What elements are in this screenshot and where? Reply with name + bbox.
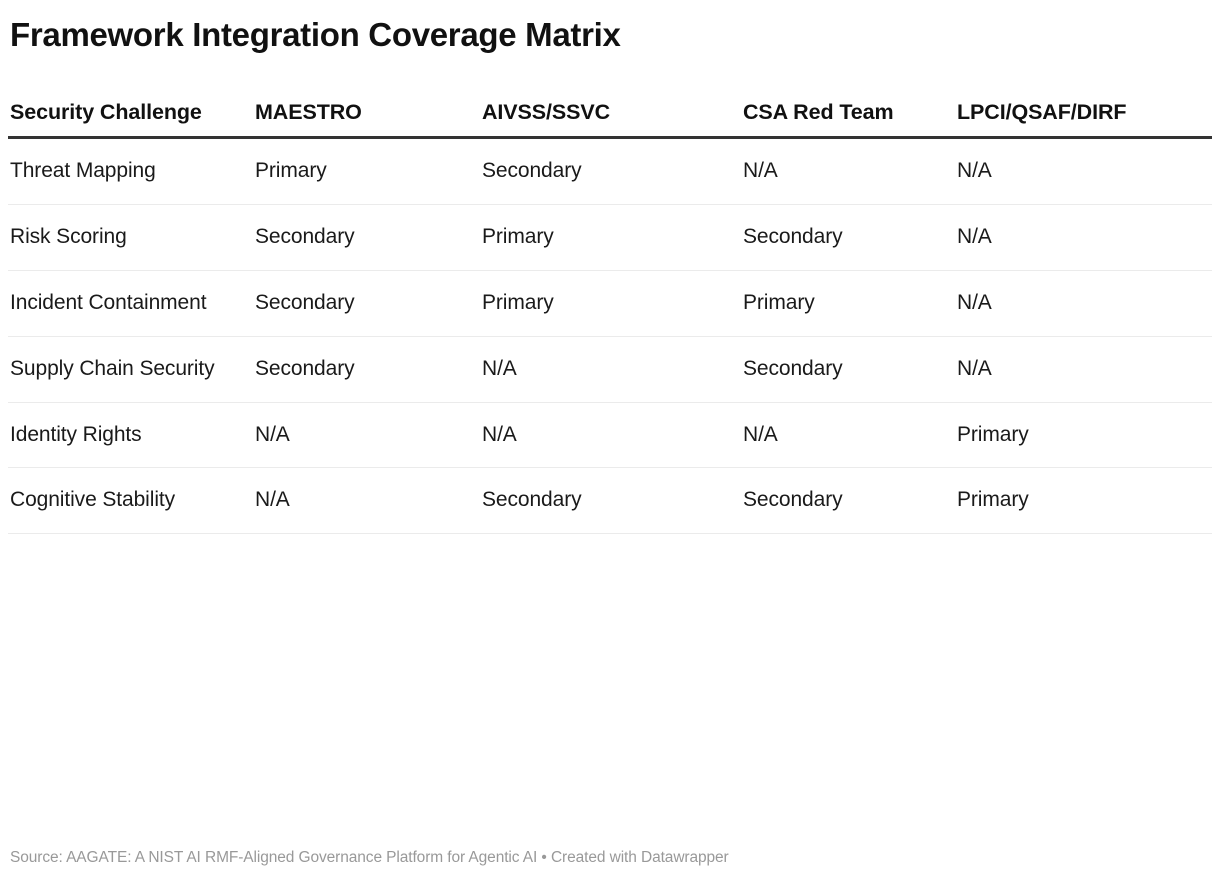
cell-threat-mapping-csa-red-team: N/A (741, 138, 955, 205)
cell-cognitive-stability-csa-red-team: Secondary (741, 468, 955, 534)
cell-incident-containment-aivss-ssvc: Primary (480, 270, 741, 336)
table-row: Supply Chain Security Secondary N/A Seco… (8, 336, 1212, 402)
cell-threat-mapping-lpci-qsaf-dirf: N/A (955, 138, 1212, 205)
column-header-csa-red-team[interactable]: CSA Red Team (741, 100, 955, 138)
column-header-lpci-qsaf-dirf[interactable]: LPCI/QSAF/DIRF (955, 100, 1212, 138)
cell-supply-chain-security-csa-red-team: Secondary (741, 336, 955, 402)
cell-incident-containment-maestro: Secondary (253, 270, 480, 336)
table-row: Incident Containment Secondary Primary P… (8, 270, 1212, 336)
cell-risk-scoring-lpci-qsaf-dirf: N/A (955, 204, 1212, 270)
row-label-supply-chain-security: Supply Chain Security (8, 336, 253, 402)
column-header-maestro[interactable]: MAESTRO (253, 100, 480, 138)
table-header: Security Challenge MAESTRO AIVSS/SSVC CS… (8, 100, 1212, 138)
cell-cognitive-stability-lpci-qsaf-dirf: Primary (955, 468, 1212, 534)
row-label-incident-containment: Incident Containment (8, 270, 253, 336)
row-label-risk-scoring: Risk Scoring (8, 204, 253, 270)
cell-threat-mapping-maestro: Primary (253, 138, 480, 205)
cell-identity-rights-lpci-qsaf-dirf: Primary (955, 402, 1212, 468)
cell-supply-chain-security-aivss-ssvc: N/A (480, 336, 741, 402)
column-header-aivss-ssvc[interactable]: AIVSS/SSVC (480, 100, 741, 138)
cell-supply-chain-security-lpci-qsaf-dirf: N/A (955, 336, 1212, 402)
table-row: Risk Scoring Secondary Primary Secondary… (8, 204, 1212, 270)
cell-cognitive-stability-maestro: N/A (253, 468, 480, 534)
cell-risk-scoring-csa-red-team: Secondary (741, 204, 955, 270)
cell-incident-containment-lpci-qsaf-dirf: N/A (955, 270, 1212, 336)
page-title: Framework Integration Coverage Matrix (8, 0, 1212, 54)
cell-risk-scoring-aivss-ssvc: Primary (480, 204, 741, 270)
table-header-row: Security Challenge MAESTRO AIVSS/SSVC CS… (8, 100, 1212, 138)
coverage-matrix-table: Security Challenge MAESTRO AIVSS/SSVC CS… (8, 100, 1212, 534)
table-row: Identity Rights N/A N/A N/A Primary (8, 402, 1212, 468)
column-header-security-challenge[interactable]: Security Challenge (8, 100, 253, 138)
row-label-identity-rights: Identity Rights (8, 402, 253, 468)
cell-identity-rights-maestro: N/A (253, 402, 480, 468)
chart-page: Framework Integration Coverage Matrix Se… (0, 0, 1220, 886)
row-label-threat-mapping: Threat Mapping (8, 138, 253, 205)
cell-identity-rights-aivss-ssvc: N/A (480, 402, 741, 468)
cell-supply-chain-security-maestro: Secondary (253, 336, 480, 402)
cell-cognitive-stability-aivss-ssvc: Secondary (480, 468, 741, 534)
cell-incident-containment-csa-red-team: Primary (741, 270, 955, 336)
table-row: Threat Mapping Primary Secondary N/A N/A (8, 138, 1212, 205)
row-label-cognitive-stability: Cognitive Stability (8, 468, 253, 534)
table-body: Threat Mapping Primary Secondary N/A N/A… (8, 138, 1212, 534)
cell-identity-rights-csa-red-team: N/A (741, 402, 955, 468)
table-row: Cognitive Stability N/A Secondary Second… (8, 468, 1212, 534)
cell-threat-mapping-aivss-ssvc: Secondary (480, 138, 741, 205)
source-credit: Source: AAGATE: A NIST AI RMF-Aligned Go… (10, 848, 729, 868)
cell-risk-scoring-maestro: Secondary (253, 204, 480, 270)
